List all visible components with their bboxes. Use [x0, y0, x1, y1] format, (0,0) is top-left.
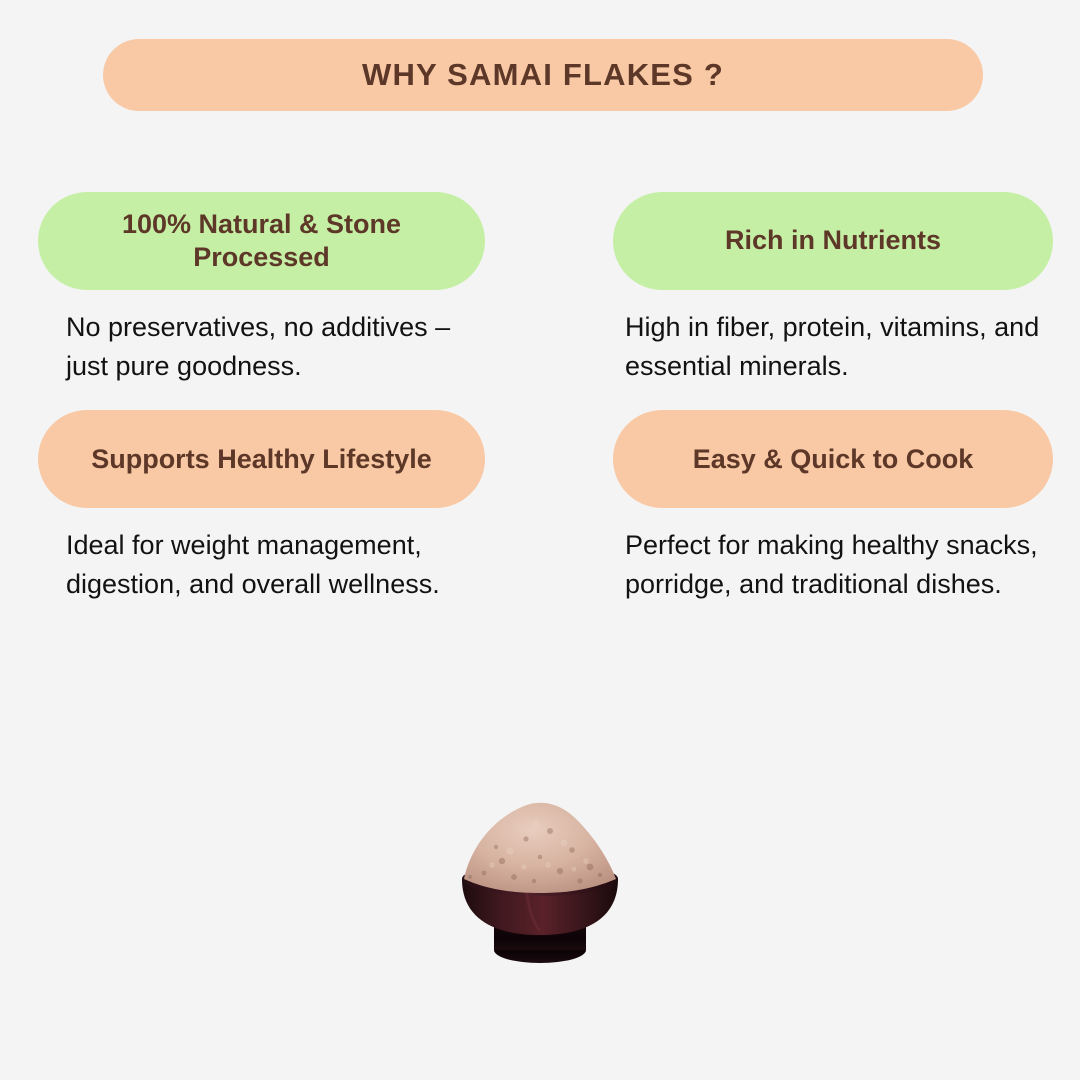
feature-description: High in fiber, protein, vitamins, and es… — [613, 308, 1053, 386]
page-title: WHY SAMAI FLAKES ? — [362, 57, 724, 93]
feature-row-top: 100% Natural & Stone Processed No preser… — [0, 192, 1080, 386]
feature-card-easy-quick-to-cook: Easy & Quick to Cook Perfect for making … — [540, 410, 1080, 604]
feature-card-rich-in-nutrients: Rich in Nutrients High in fiber, protein… — [540, 192, 1080, 386]
feature-description: Perfect for making healthy snacks, porri… — [613, 526, 1053, 604]
feature-grid: 100% Natural & Stone Processed No preser… — [0, 192, 1080, 605]
feature-card-natural-stone-processed: 100% Natural & Stone Processed No preser… — [0, 192, 540, 386]
feature-title: Easy & Quick to Cook — [693, 443, 974, 476]
bowl-of-samai-flakes-image — [440, 795, 640, 970]
feature-title-pill: 100% Natural & Stone Processed — [38, 192, 485, 290]
feature-title-pill: Easy & Quick to Cook — [613, 410, 1053, 508]
page-title-banner: WHY SAMAI FLAKES ? — [103, 39, 983, 111]
feature-card-supports-healthy-lifestyle: Supports Healthy Lifestyle Ideal for wei… — [0, 410, 540, 604]
feature-description: No preservatives, no additives – just pu… — [38, 308, 485, 386]
bowl-icon — [440, 795, 640, 970]
row-spacer — [0, 386, 1080, 410]
feature-title: Supports Healthy Lifestyle — [91, 443, 432, 476]
feature-title-pill: Supports Healthy Lifestyle — [38, 410, 485, 508]
feature-row-bottom: Supports Healthy Lifestyle Ideal for wei… — [0, 410, 1080, 604]
feature-title-pill: Rich in Nutrients — [613, 192, 1053, 290]
feature-title: Rich in Nutrients — [725, 224, 941, 257]
feature-description: Ideal for weight management, digestion, … — [38, 526, 485, 604]
feature-title: 100% Natural & Stone Processed — [54, 208, 469, 275]
